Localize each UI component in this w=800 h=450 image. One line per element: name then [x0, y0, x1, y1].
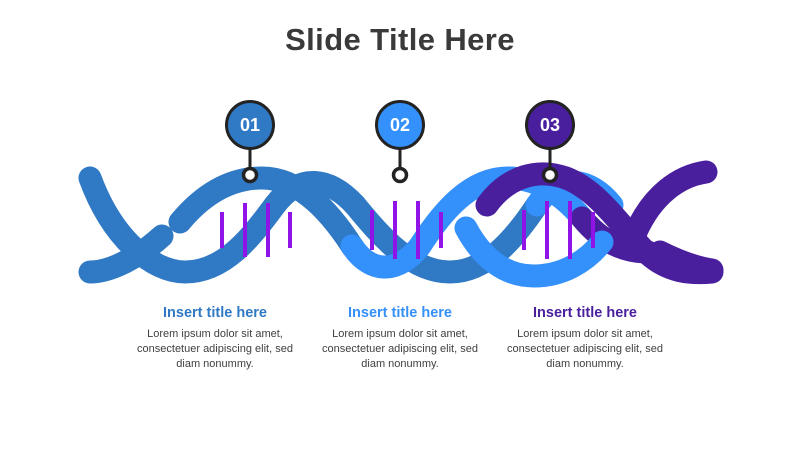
- helix-segment3-lower: [466, 228, 602, 276]
- caption-block-1: Insert title here Lorem ipsum dolor sit …: [123, 305, 308, 373]
- caption-block-3: Insert title here Lorem ipsum dolor sit …: [493, 305, 678, 373]
- marker-01[interactable]: 01: [222, 100, 278, 150]
- dna-helix-illustration: [0, 0, 800, 450]
- caption-body-3: Lorem ipsum dolor sit amet, consectetuer…: [498, 327, 673, 373]
- marker-circle-03[interactable]: 03: [525, 100, 575, 150]
- caption-title-3: Insert title here: [498, 305, 673, 321]
- slide-canvas: Slide Title Here: [0, 0, 800, 450]
- caption-title-1: Insert title here: [128, 305, 303, 321]
- caption-row: Insert title here Lorem ipsum dolor sit …: [0, 305, 800, 373]
- marker-02[interactable]: 02: [372, 100, 428, 150]
- marker-ring: [394, 169, 407, 182]
- marker-ring: [244, 169, 257, 182]
- marker-circle-02[interactable]: 02: [375, 100, 425, 150]
- caption-body-1: Lorem ipsum dolor sit amet, consectetuer…: [128, 327, 303, 373]
- helix-right-upper-arc: [636, 172, 706, 232]
- marker-circle-01[interactable]: 01: [225, 100, 275, 150]
- caption-title-2: Insert title here: [313, 305, 488, 321]
- marker-03[interactable]: 03: [522, 100, 578, 150]
- marker-ring: [544, 169, 557, 182]
- caption-block-2: Insert title here Lorem ipsum dolor sit …: [308, 305, 493, 373]
- helix-bright-lower-arc: [466, 228, 602, 276]
- caption-body-2: Lorem ipsum dolor sit amet, consectetuer…: [313, 327, 488, 373]
